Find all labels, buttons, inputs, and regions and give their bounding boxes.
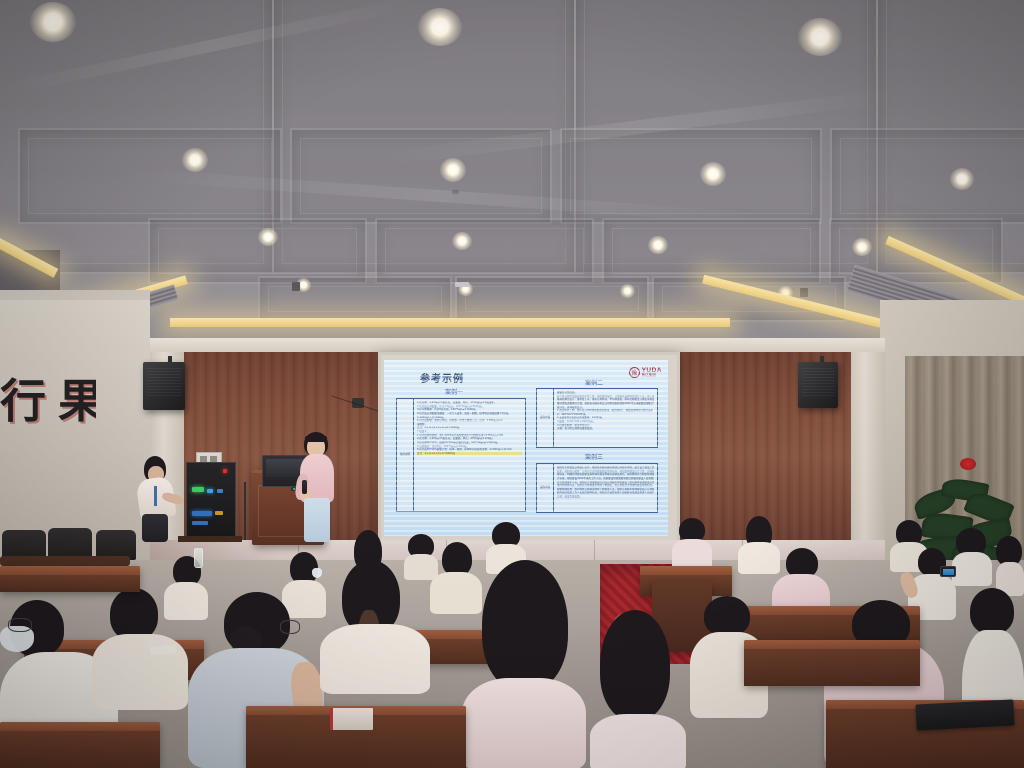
slide-title: 参考示例 [420,370,464,385]
audience-member [672,518,712,570]
yuda-logo-icon: 豫 [629,367,640,378]
status-led-blue [217,489,223,493]
case-two-label: 案例内容 [537,389,554,447]
ceiling-downlight [418,8,462,46]
case-three-table: 案例内容 按照住宅区建设公共核心业务，按照各市政府城市管理公共部分项目，结合设计… [536,463,658,513]
ceiling-downlight [798,18,842,56]
torso [952,552,992,586]
case-one-table: 使用说明 1.住宅甲：1,250㎡×5层住宅，总面积，单价：4750元/㎡×5层… [396,398,526,512]
desk-row-front [0,722,160,768]
ceiling-panel [830,128,1024,224]
wall-speaker-right [798,362,838,408]
audience-member [320,560,430,690]
assistant-lanyard [154,486,157,506]
rack-shelf [178,536,242,542]
ceiling-sensor [292,282,300,291]
av-assistant [136,456,180,542]
slide-logo: 豫 YUDA 豫达集团 [629,367,662,378]
conference-room-photo: 行 果 参考示例 豫 YUDA 豫达集团 案例一 使 [0,0,1024,768]
case-one-label: 使用说明 [397,399,414,511]
case-one-heading: 案例一 [414,387,494,396]
eyeglasses [280,620,300,634]
cove-light-center [170,318,730,327]
open-booklet[interactable] [330,708,373,730]
ceiling-panel [148,218,367,284]
hair [110,588,158,640]
eyeglasses [8,618,32,632]
ceiling-sensor [455,282,469,287]
desk-row-side [744,640,920,686]
ceiling-downlight [440,158,466,182]
hair [600,610,670,720]
ceiling-downlight [648,236,668,254]
desk-row-back-left [0,566,140,592]
ceiling-downlight [852,238,872,256]
ceiling-downlight [950,168,974,190]
smartphone-camera[interactable] [940,566,956,577]
status-led-blue [192,511,212,516]
ceiling-panel [258,276,452,322]
notebook-on-desk[interactable] [915,699,1014,730]
case-three-content: 按照住宅区建设公共核心业务，按照各市政府城市管理公共部分项目，结合设计建设工程项… [554,464,657,512]
ceiling-downlight [620,284,635,298]
microphone-stand [244,482,246,540]
logo-subtitle: 豫达集团 [642,374,662,377]
presenter-fringe [305,434,327,442]
torso [320,624,430,694]
status-led-amber [215,511,223,515]
audience-member [462,560,586,768]
red-flower [960,458,976,470]
power-led [223,469,227,473]
wall-speaker-left [143,362,185,410]
wall-column-right [851,352,885,568]
ceiling-panel [375,218,594,284]
ceiling-panel [455,276,649,322]
audience-member [952,528,992,584]
wall-signage-text: 行 果 [0,372,96,434]
case-one-content: 1.住宅甲：1,250㎡×5层住宅，总面积，单价：4750元/㎡×5层成本， 2… [414,399,525,511]
ceiling-downlight [30,2,76,42]
case-two-table: 案例内容 城镇住宅区改造。 各小区公共区域维修及养护等工程，按照整体规范，公共服… [536,388,658,448]
audience-member [996,536,1024,594]
hair [482,560,568,690]
status-led-blue [207,489,213,493]
torso [590,714,686,768]
ceiling-downlight [182,148,208,172]
case-three-label: 案例内容 [537,464,554,512]
ceiling-panel [602,218,821,284]
status-led-green [192,487,204,492]
ceiling-downlight [452,232,472,250]
audience-member [590,610,686,768]
ceiling-panel [652,276,846,322]
assistant-legs [142,514,168,542]
handheld-microphone[interactable] [302,480,307,494]
ceiling-downlight [700,162,726,186]
torso [462,678,586,768]
ceiling-sensor [800,288,808,297]
case-two-content: 城镇住宅区改造。 各小区公共区域维修及养护等工程，按照整体规范，公共服务设施项目… [554,389,657,447]
projection-screen: 参考示例 豫 YUDA 豫达集团 案例一 使用说明 1.住宅甲：1,250㎡×5… [384,360,668,536]
chair-armrest [0,556,130,566]
hair [970,588,1014,634]
status-led-blue [192,521,208,525]
case-two-heading: 案例二 [534,378,654,387]
hair [704,596,750,636]
case-three-heading: 案例三 [534,452,654,461]
av-equipment-rack[interactable] [186,462,236,542]
presenter-skirt [304,498,330,542]
ceiling-downlight [258,228,278,246]
presenter [294,432,344,542]
water-bottle[interactable] [194,548,203,568]
